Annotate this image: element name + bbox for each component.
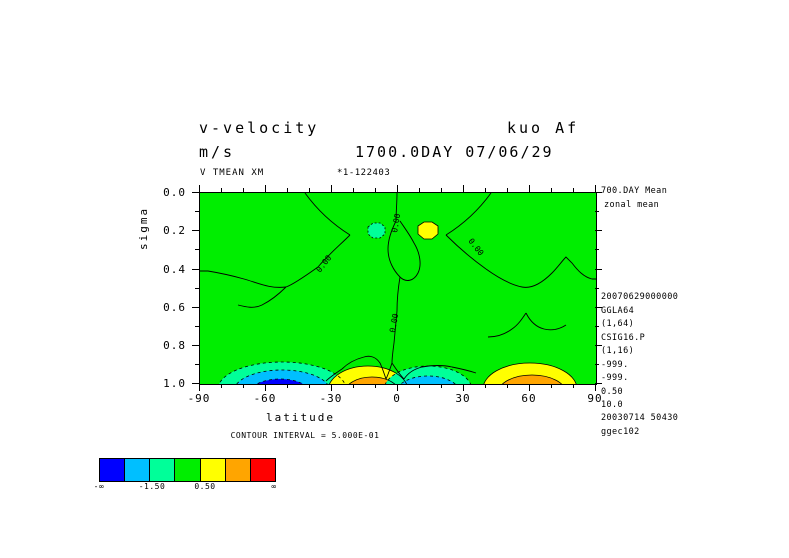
colorbar xyxy=(99,458,276,482)
metadata-vmin: 0.50 xyxy=(601,386,678,400)
ytick-label-0: 0.0 xyxy=(146,186,186,199)
upper-negative-blob xyxy=(368,223,385,238)
xtick-label-3: 0 xyxy=(377,392,417,405)
colorbar-swatch-5 xyxy=(225,459,250,481)
ytick-label-1: 0.2 xyxy=(146,224,186,237)
colorbar-label-1: -1.50 xyxy=(132,482,172,491)
ytick-label-5: 1.0 xyxy=(146,377,186,390)
ytick-label-3: 0.6 xyxy=(146,301,186,314)
colorbar-swatch-2 xyxy=(149,459,174,481)
model-title: kuo Af xyxy=(507,119,579,137)
metadata-dataset-dim: (1,64) xyxy=(601,318,678,332)
subtitle-left: V TMEAN XM xyxy=(200,168,264,178)
metadata-block: 20070629000000 GGLA64 (1,64) CSIG16.P (1… xyxy=(601,291,678,413)
metadata-vertical: CSIG16.P xyxy=(601,332,678,346)
xtick-label-2: -30 xyxy=(311,392,351,405)
xtick-label-0: -90 xyxy=(179,392,219,405)
xtick-label-1: -60 xyxy=(245,392,285,405)
ytick-label-2: 0.4 xyxy=(146,263,186,276)
contour-interval-caption: CONTOUR INTERVAL = 5.000E-01 xyxy=(0,431,789,440)
day-date-label: 1700.0DAY 07/06/29 xyxy=(355,143,554,161)
colorbar-label-2: 0.50 xyxy=(185,482,225,491)
metadata-vmax: 10.0 xyxy=(601,399,678,413)
metadata-program: ggec102 xyxy=(601,427,640,437)
metadata-missing-1: -999. xyxy=(601,359,678,373)
metadata-dataset: GGLA64 xyxy=(601,305,678,319)
upper-positive-blob xyxy=(418,222,438,239)
colorbar-label-0: -∞ xyxy=(79,482,119,491)
metadata-vertical-dim: (1,16) xyxy=(601,345,678,359)
contour-plot-area: 0.00 0.00 0.00 0.00 xyxy=(199,192,597,385)
units-label: m/s xyxy=(199,143,235,161)
variable-title: v-velocity xyxy=(199,119,319,137)
subtitle-right: *1-122403 xyxy=(337,168,390,178)
metadata-missing-2: -999. xyxy=(601,372,678,386)
xtick-label-4: 30 xyxy=(443,392,483,405)
mean-period-label: 700.DAY Mean xyxy=(601,186,667,196)
colorbar-swatch-3 xyxy=(174,459,199,481)
metadata-timestamp: 20070629000000 xyxy=(601,291,678,305)
mean-type-label: zonal mean xyxy=(604,200,659,210)
colorbar-swatch-6 xyxy=(250,459,275,481)
xtick-label-5: 60 xyxy=(509,392,549,405)
colorbar-swatch-1 xyxy=(124,459,149,481)
figure-canvas: v-velocity kuo Af m/s 1700.0DAY 07/06/29… xyxy=(0,0,789,558)
metadata-run-id: 20030714 50430 xyxy=(601,413,678,423)
colorbar-swatch-0 xyxy=(100,459,124,481)
colorbar-swatch-4 xyxy=(200,459,225,481)
contour-field: 0.00 0.00 0.00 0.00 xyxy=(200,193,596,384)
y-axis-label: sigma xyxy=(137,207,150,250)
ytick-label-4: 0.8 xyxy=(146,339,186,352)
colorbar-label-3: ∞ xyxy=(254,482,294,491)
